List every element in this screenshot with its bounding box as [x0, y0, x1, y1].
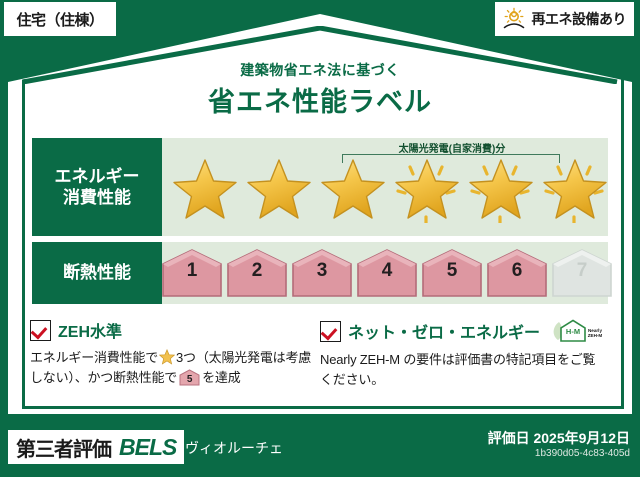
energy-performance-value: 太陽光発電(自家消費)分: [162, 138, 608, 236]
star-2: [242, 151, 316, 223]
insulation-grade-5: 5: [421, 248, 483, 298]
property-name: ヴィオルーチェ: [185, 438, 283, 458]
label-title: 省エネ性能ラベル: [0, 80, 640, 119]
renewable-badge-label: 再エネ設備あり: [532, 9, 627, 29]
checkbox-checked-icon: [30, 320, 51, 341]
renewable-badge: 再エネ設備あり: [495, 2, 635, 36]
zeh-m-logo-icon: H-M Nearly ZEH-M: [549, 318, 605, 344]
energy-label: 住宅（住棟） 再エネ設備あり 建築物省エネ法に基づく 省エネ性能ラベル: [0, 0, 640, 477]
grade-value: 1: [161, 260, 223, 282]
insulation-performance-value: 1 2 3 4 5 6 7: [162, 242, 608, 304]
bels-en-label: BELS: [119, 434, 176, 461]
insulation-performance-row: 断熱性能 1 2 3 4 5 6 7: [32, 242, 608, 304]
insulation-grade-2: 2: [226, 248, 288, 298]
star-4: [390, 151, 464, 223]
note-nze: ネット・ゼロ・エネルギー H-M Nearly ZEH-M Nearly ZEH…: [320, 318, 610, 410]
insulation-grade-4: 4: [356, 248, 418, 298]
note-zeh-body: エネルギー消費性能で3つ（太陽光発電は考慮しない）、かつ断熱性能で5を達成: [30, 348, 312, 388]
evaluation-id: 1b390d05-4c83-405d: [535, 448, 630, 459]
insulation-grade-7: 7: [551, 248, 613, 298]
building-type-label: 住宅（住棟）: [16, 9, 103, 30]
insulation-grade-3: 3: [291, 248, 353, 298]
bels-badge: 第三者評価 BELS: [8, 430, 184, 464]
insulation-grade-inline-icon: 5: [179, 369, 200, 386]
note-nze-title: ネット・ゼロ・エネルギー: [348, 319, 540, 343]
star-3: [316, 151, 390, 223]
bels-jp-label: 第三者評価: [16, 433, 111, 462]
label-subtitle: 建築物省エネ法に基づく: [0, 60, 640, 80]
note-zeh-text1: エネルギー消費性能で: [30, 350, 158, 365]
star-icon: [242, 151, 316, 223]
star-rating: [162, 138, 608, 236]
svg-text:H-M: H-M: [566, 327, 580, 336]
note-nze-body: Nearly ZEH-M の要件は評価書の特記項目をご覧ください。: [320, 350, 602, 390]
star-5: [464, 151, 538, 223]
star-6: [538, 151, 612, 223]
star-icon: [316, 151, 390, 223]
energy-label-line1: エネルギー: [55, 166, 140, 187]
grade-value: 3: [291, 260, 353, 282]
insulation-grade-1: 1: [161, 248, 223, 298]
insulation-label-text: 断熱性能: [63, 262, 131, 283]
insulation-grade-6: 6: [486, 248, 548, 298]
note-zeh-text3: を達成: [202, 370, 240, 385]
star-1: [168, 151, 242, 223]
notes-section: ZEH水準 エネルギー消費性能で3つ（太陽光発電は考慮しない）、かつ断熱性能で5…: [30, 318, 610, 410]
star-icon: [159, 349, 175, 365]
star-icon: [538, 151, 612, 223]
label-footer: 第三者評価 BELS ヴィオルーチェ 評価日 2025年9月12日 1b390d…: [0, 422, 640, 477]
inline-grade-value: 5: [179, 372, 200, 388]
grade-value: 4: [356, 260, 418, 282]
insulation-performance-label: 断熱性能: [32, 242, 162, 304]
grade-value: 7: [551, 260, 613, 282]
grade-value: 5: [421, 260, 483, 282]
insulation-grade-list: 1 2 3 4 5 6 7: [162, 242, 608, 304]
svg-text:ZEH-M: ZEH-M: [588, 333, 603, 338]
note-zeh: ZEH水準 エネルギー消費性能で3つ（太陽光発電は考慮しない）、かつ断熱性能で5…: [30, 318, 320, 410]
star-icon: [168, 151, 242, 223]
note-zeh-header: ZEH水準: [30, 318, 312, 342]
sun-icon: [501, 7, 527, 31]
grade-value: 2: [226, 260, 288, 282]
note-zeh-title: ZEH水準: [58, 318, 122, 342]
grade-value: 6: [486, 260, 548, 282]
star-icon: [464, 151, 538, 223]
note-nze-header: ネット・ゼロ・エネルギー H-M Nearly ZEH-M: [320, 318, 602, 344]
energy-performance-label: エネルギー 消費性能: [32, 138, 162, 236]
energy-performance-row: エネルギー 消費性能 太陽光発電(自家消費)分: [32, 138, 608, 236]
building-type-tag: 住宅（住棟）: [4, 2, 116, 36]
energy-label-line2: 消費性能: [63, 187, 131, 208]
star-icon: [390, 151, 464, 223]
evaluation-date: 評価日 2025年9月12日: [488, 428, 630, 448]
checkbox-checked-icon: [320, 321, 341, 342]
